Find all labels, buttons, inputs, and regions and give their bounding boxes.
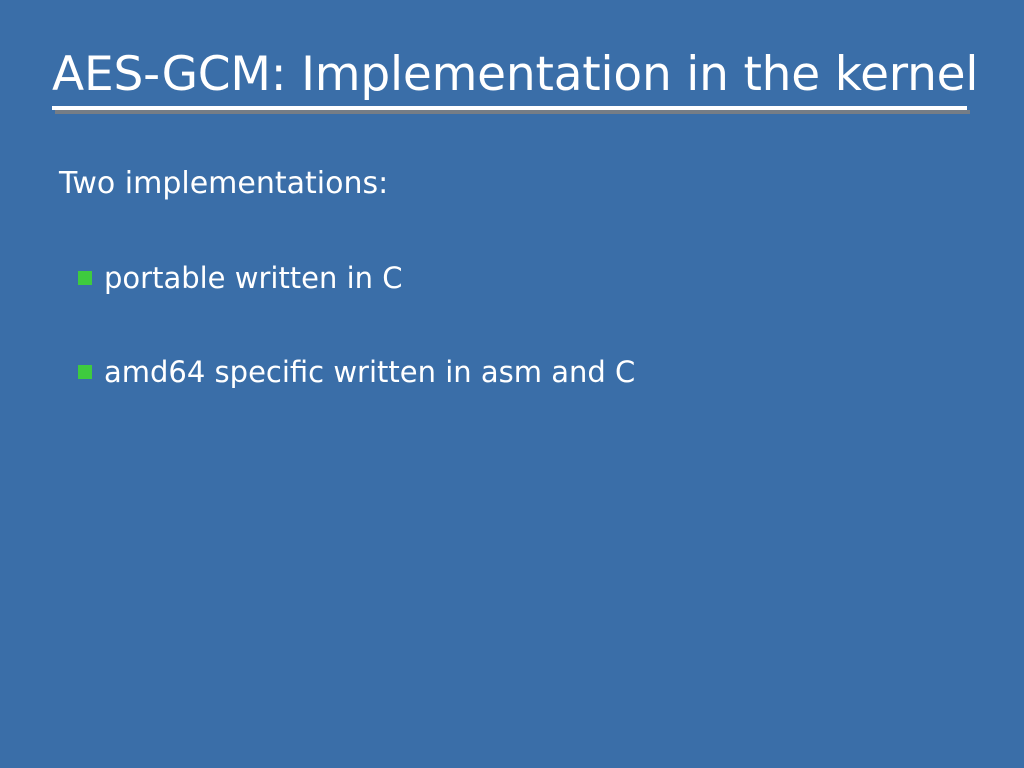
title-block: AES-GCM: Implementation in the kernel [52, 44, 967, 112]
list-item: portable written in C [78, 256, 958, 300]
slide: AES-GCM: Implementation in the kernel Tw… [0, 0, 1024, 768]
square-bullet-icon [78, 365, 92, 379]
bullet-list: portable written in C amd64 specific wri… [78, 256, 958, 444]
title-underline-rule-shadow [55, 110, 970, 114]
page-title: AES-GCM: Implementation in the kernel [52, 44, 967, 106]
list-item-label: amd64 specific written in asm and C [104, 352, 635, 392]
list-item: amd64 specific written in asm and C [78, 350, 958, 394]
body-content: Two implementations: portable written in… [59, 164, 979, 204]
lead-line-text: Two implementations: [59, 164, 979, 204]
list-item-label: portable written in C [104, 258, 403, 298]
square-bullet-icon [78, 271, 92, 285]
